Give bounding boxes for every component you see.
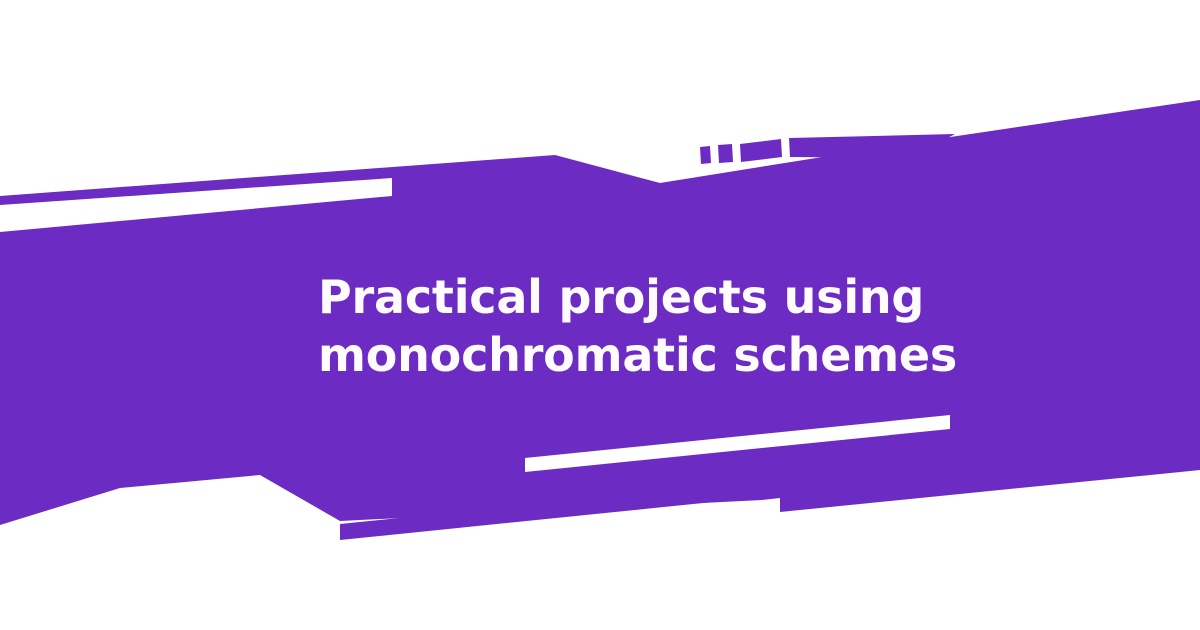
dash-square-medium (718, 144, 733, 163)
banner-card: Practical projects using monochromatic s… (0, 0, 1200, 630)
dash-bar-short (740, 139, 782, 162)
banner-artwork (0, 0, 1200, 630)
dash-square-small (700, 146, 711, 164)
